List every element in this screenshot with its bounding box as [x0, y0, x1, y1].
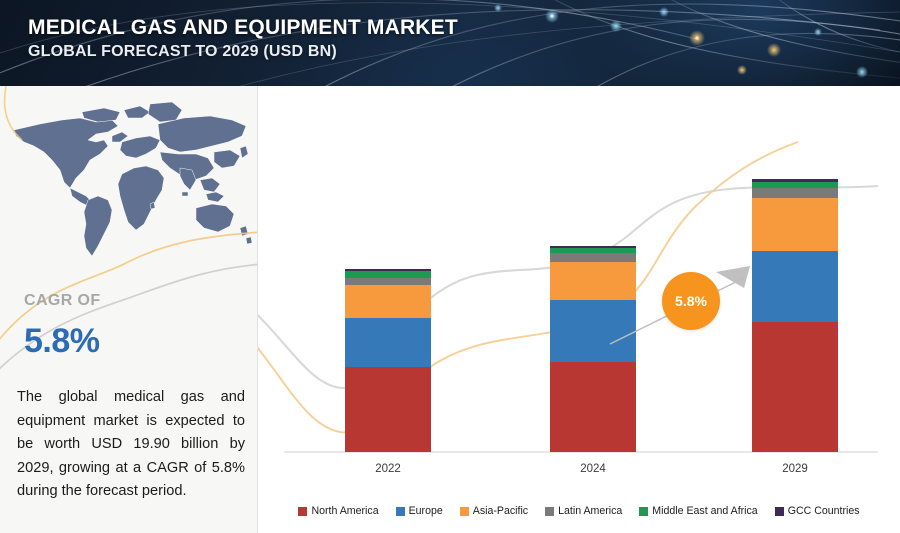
cagr-label: CAGR OF	[24, 292, 250, 310]
page-title: MEDICAL GAS AND EQUIPMENT MARKET	[28, 16, 458, 39]
legend-label: GCC Countries	[788, 505, 860, 517]
legend-item-gcc-countries[interactable]: GCC Countries	[775, 505, 860, 517]
cagr-bubble[interactable]: 5.8%	[662, 272, 720, 330]
legend-label: North America	[311, 505, 378, 517]
summary-description: The global medical gas and equipment mar…	[17, 386, 245, 504]
legend-swatch-icon	[298, 507, 307, 516]
legend-item-asia-pacific[interactable]: Asia-Pacific	[460, 505, 528, 517]
stacked-bar-chart: 17.65 2022 19.90	[258, 86, 900, 533]
infographic-page: MEDICAL GAS AND EQUIPMENT MARKET GLOBAL …	[0, 0, 900, 533]
page-subtitle: GLOBAL FORECAST TO 2029 (USD BN)	[28, 42, 458, 62]
legend-label: Latin America	[558, 505, 622, 517]
legend-swatch-icon	[639, 507, 648, 516]
legend-item-middle-east-and-africa[interactable]: Middle East and Africa	[639, 505, 757, 517]
chart-panel: 17.65 2022 19.90	[258, 86, 900, 533]
cagr-arrow-icon	[258, 86, 900, 533]
legend-swatch-icon	[460, 507, 469, 516]
cagr-value: 5.8%	[24, 322, 250, 360]
legend-label: Europe	[409, 505, 443, 517]
header-banner: MEDICAL GAS AND EQUIPMENT MARKET GLOBAL …	[0, 0, 900, 86]
summary-panel: CAGR OF 5.8% The global medical gas and …	[0, 86, 258, 533]
legend-label: Middle East and Africa	[652, 505, 757, 517]
legend-item-latin-america[interactable]: Latin America	[545, 505, 622, 517]
legend-label: Asia-Pacific	[473, 505, 528, 517]
cagr-block: CAGR OF 5.8%	[24, 292, 250, 360]
legend-swatch-icon	[775, 507, 784, 516]
header-text-block: MEDICAL GAS AND EQUIPMENT MARKET GLOBAL …	[28, 16, 458, 62]
legend-swatch-icon	[396, 507, 405, 516]
legend-swatch-icon	[545, 507, 554, 516]
legend-item-europe[interactable]: Europe	[396, 505, 443, 517]
chart-legend: North America Europe Asia-Pacific Latin …	[258, 505, 900, 517]
legend-item-north-america[interactable]: North America	[298, 505, 378, 517]
